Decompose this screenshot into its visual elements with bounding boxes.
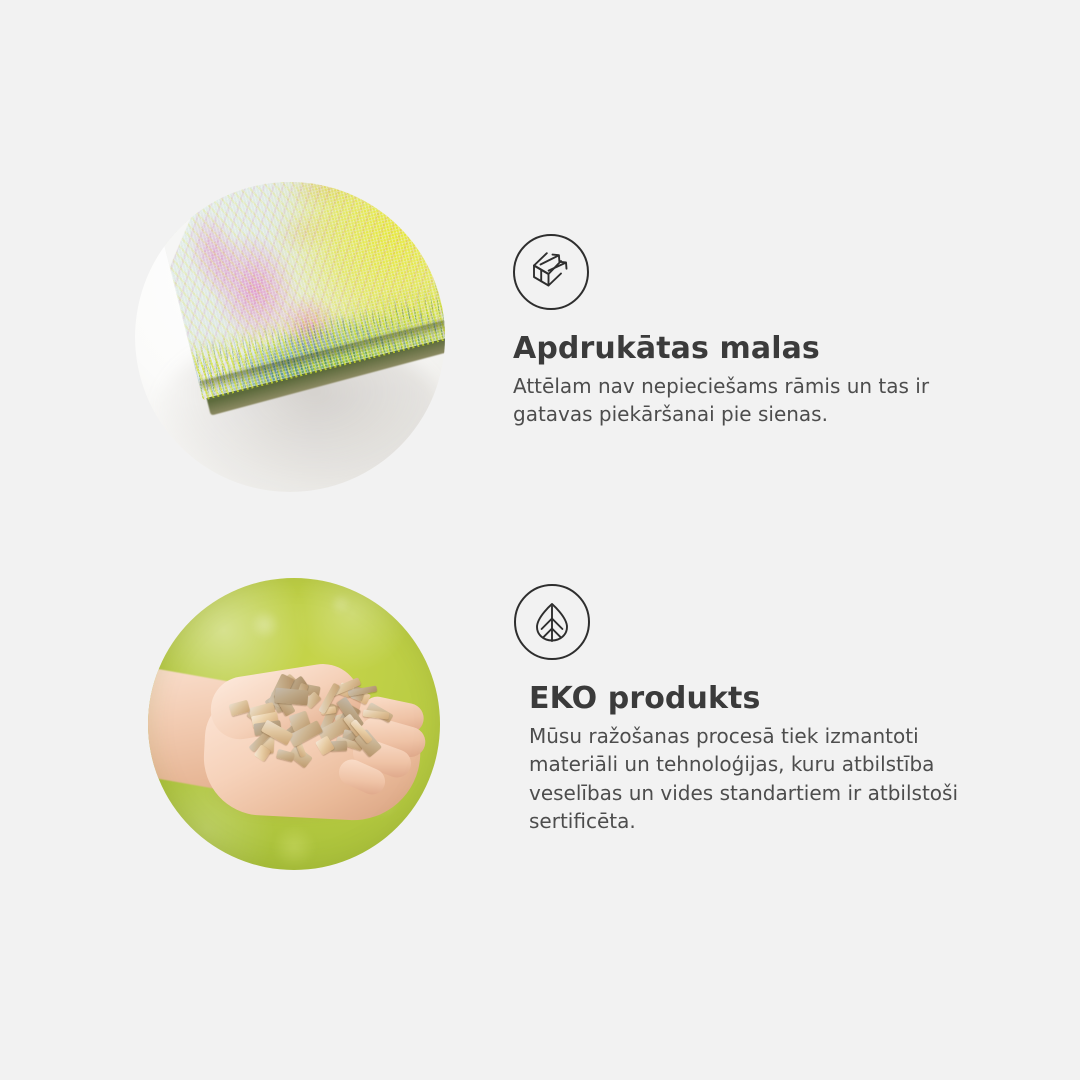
feature-body: Attēlam nav nepieciešams rāmis un tas ir…: [513, 372, 995, 429]
canvas-corner-photo: [135, 182, 445, 492]
leaf-icon: [514, 584, 590, 660]
canvas-corner-cut: [155, 182, 445, 399]
feature-eko: EKO produkts Mūsu ražošanas procesā tiek…: [0, 560, 1080, 880]
feature-text-eko: EKO produkts Mūsu ražošanas procesā tiek…: [513, 584, 1013, 836]
promo-page: Apdrukātas malas Attēlam nav nepieciešam…: [0, 0, 1080, 1080]
canvas-printed-face: [155, 182, 445, 399]
feature-title: EKO produkts: [529, 682, 1013, 716]
feature-printed-edges: Apdrukātas malas Attēlam nav nepieciešam…: [0, 170, 1080, 510]
wood-chips-in-hands-photo: [148, 578, 440, 870]
feature-body: Mūsu ražošanas procesā tiek izmantoti ma…: [529, 722, 1005, 836]
feature-text-printed-edges: Apdrukātas malas Attēlam nav nepieciešam…: [513, 234, 1013, 429]
printed-edges-glyph: [528, 249, 574, 295]
leaf-glyph: [530, 600, 574, 644]
feature-title: Apdrukātas malas: [513, 332, 1013, 366]
printed-edges-icon: [513, 234, 589, 310]
photo-vignette: [148, 578, 440, 870]
